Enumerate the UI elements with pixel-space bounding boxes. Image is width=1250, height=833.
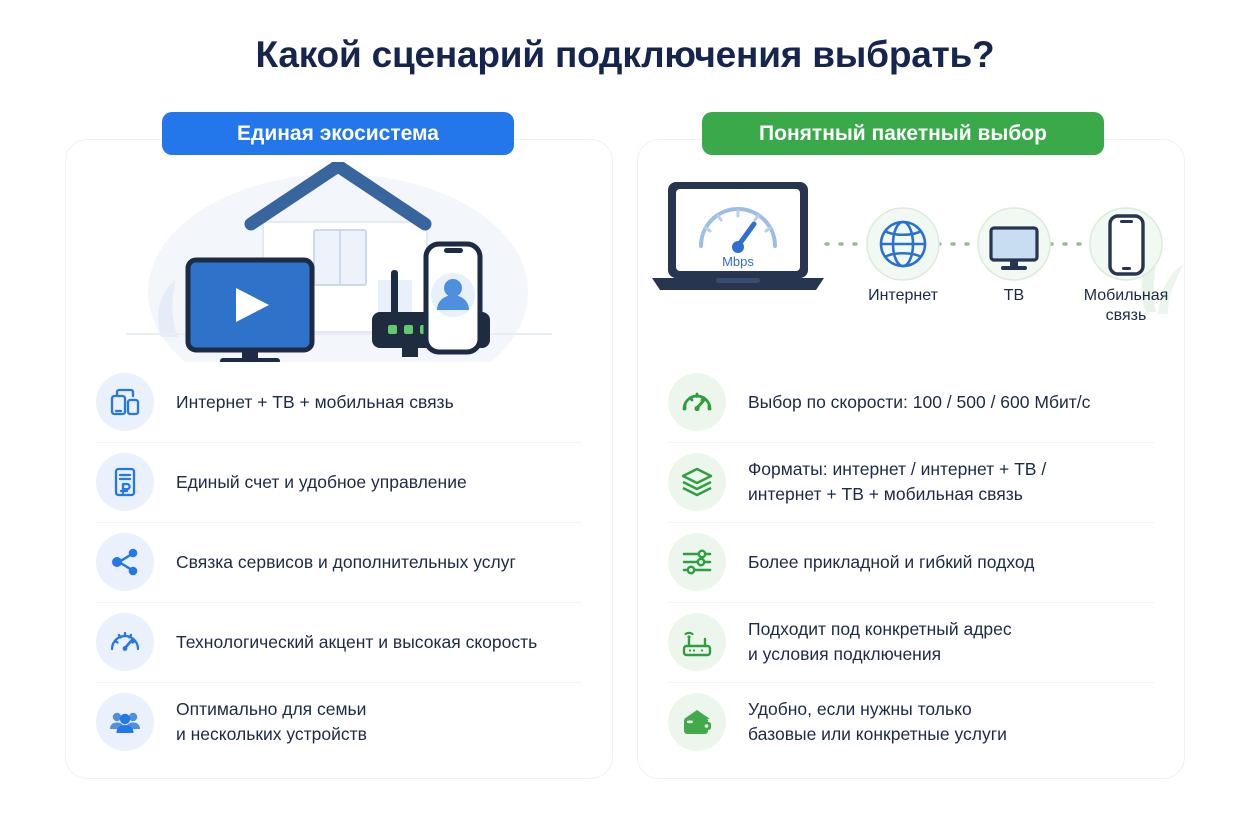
list-item-label: Связка сервисов и дополнительных услуг [176,550,516,575]
list-item[interactable]: Удобно, если нужны только базовые или ко… [638,682,1184,762]
router-icon [668,613,726,671]
list-item[interactable]: Подходит под конкретный адрес и условия … [638,602,1184,682]
infographic-page: Какой сценарий подключения выбрать? Един… [0,0,1250,833]
list-item[interactable]: Выбор по скорости: 100 / 500 / 600 Мбит/… [638,362,1184,442]
home-ecosystem-illustration [66,162,612,362]
list-item-label: Интернет + ТВ + мобильная связь [176,390,454,415]
speedometer-icon [668,373,726,431]
list-item[interactable]: Интернет + ТВ + мобильная связь [66,362,612,442]
list-item-label: Оптимально для семьи и нескольких устрой… [176,697,367,747]
list-item-label: Технологический акцент и высокая скорост… [176,630,537,655]
speedometer-icon [96,613,154,671]
card-unified-ecosystem: Интернет + ТВ + мобильная связь Единый с… [65,139,613,779]
list-item-label: Единый счет и удобное управление [176,470,467,495]
list-item-label: Более прикладной и гибкий подход [748,550,1034,575]
service-chain-illustration: Mbps [638,162,1184,362]
list-item-label: Удобно, если нужны только базовые или ко… [748,697,1007,747]
node-label-internet: Интернет [868,287,938,304]
node-label-mobile-1: Мобильная [1084,287,1169,304]
list-item[interactable]: Оптимально для семьи и нескольких устрой… [66,682,612,762]
list-item[interactable]: Единый счет и удобное управление [66,442,612,522]
account-bill-icon [96,453,154,511]
page-title: Какой сценарий подключения выбрать? [0,34,1250,76]
badge-clear-package-choice: Понятный пакетный выбор [702,112,1104,155]
list-item[interactable]: Более прикладной и гибкий подход [638,522,1184,602]
list-item[interactable]: Технологический акцент и высокая скорост… [66,602,612,682]
feature-list-right: Выбор по скорости: 100 / 500 / 600 Мбит/… [638,362,1184,762]
list-item-label: Выбор по скорости: 100 / 500 / 600 Мбит/… [748,390,1090,415]
share-nodes-icon [96,533,154,591]
list-item[interactable]: Форматы: интернет / интернет + ТВ / инте… [638,442,1184,522]
card-clear-package-choice: Mbps [637,139,1185,779]
node-label-tv: ТВ [1004,287,1024,304]
feature-list-left: Интернет + ТВ + мобильная связь Единый с… [66,362,612,762]
laptop-mbps-label: Mbps [722,254,754,269]
layers-icon [668,453,726,511]
wallet-icon [668,693,726,751]
list-item[interactable]: Связка сервисов и дополнительных услуг [66,522,612,602]
family-group-icon [96,693,154,751]
list-item-label: Подходит под конкретный адрес и условия … [748,617,1012,667]
list-item-label: Форматы: интернет / интернет + ТВ / инте… [748,457,1046,507]
devices-icon [96,373,154,431]
badge-unified-ecosystem: Единая экосистема [162,112,514,155]
sliders-icon [668,533,726,591]
node-label-mobile-2: связь [1106,307,1147,324]
